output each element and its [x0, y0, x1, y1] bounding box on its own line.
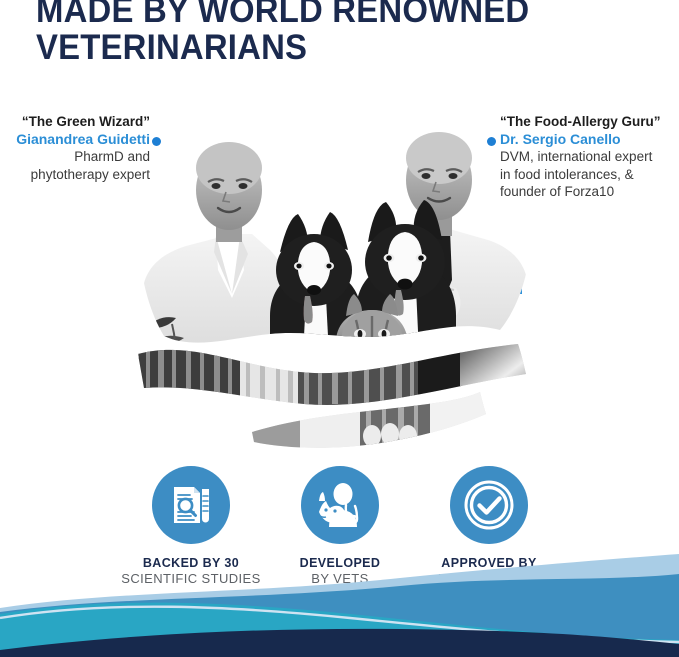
- bullet-dot-icon: [152, 137, 161, 146]
- vet-right-role: DVM, international expert in food intole…: [500, 148, 679, 201]
- sliver-illustration: [120, 340, 550, 455]
- infographic-page: Made by world renowned veterinarians: [0, 0, 679, 657]
- vet-left-role: PharmD and phytotherapy expert: [0, 148, 150, 183]
- document-magnifier-testtube-icon: [167, 481, 215, 529]
- vet-left-caption: “The Green Wizard” Gianandrea Guidetti P…: [0, 113, 150, 183]
- vet-right-name: Dr. Sergio Canello: [500, 131, 679, 149]
- hero-illustration: [120, 84, 550, 374]
- vets-and-pets-photo: [120, 84, 550, 374]
- wave-illustration: [0, 552, 679, 657]
- bottom-wave-decoration: [0, 552, 679, 657]
- vet-with-dog-icon: [315, 481, 365, 529]
- vet-right-nickname: “The Food-Allergy Guru”: [500, 113, 679, 131]
- badge-icon-circle: [152, 466, 230, 544]
- check-circle-icon: [463, 479, 515, 531]
- sliver-band-upper: [120, 340, 550, 410]
- badge-icon-circle: [450, 466, 528, 544]
- hero-photo-montage: [120, 84, 550, 374]
- vet-left-nickname: “The Green Wizard”: [0, 113, 150, 131]
- vet-left-name: Gianandrea Guidetti: [0, 131, 150, 149]
- photo-slivers: [120, 340, 550, 455]
- page-title: Made by world renowned veterinarians: [36, 0, 600, 66]
- badge-icon-circle: [301, 466, 379, 544]
- vet-right-caption: “The Food-Allergy Guru” Dr. Sergio Canel…: [500, 113, 679, 201]
- bullet-dot-icon: [487, 137, 496, 146]
